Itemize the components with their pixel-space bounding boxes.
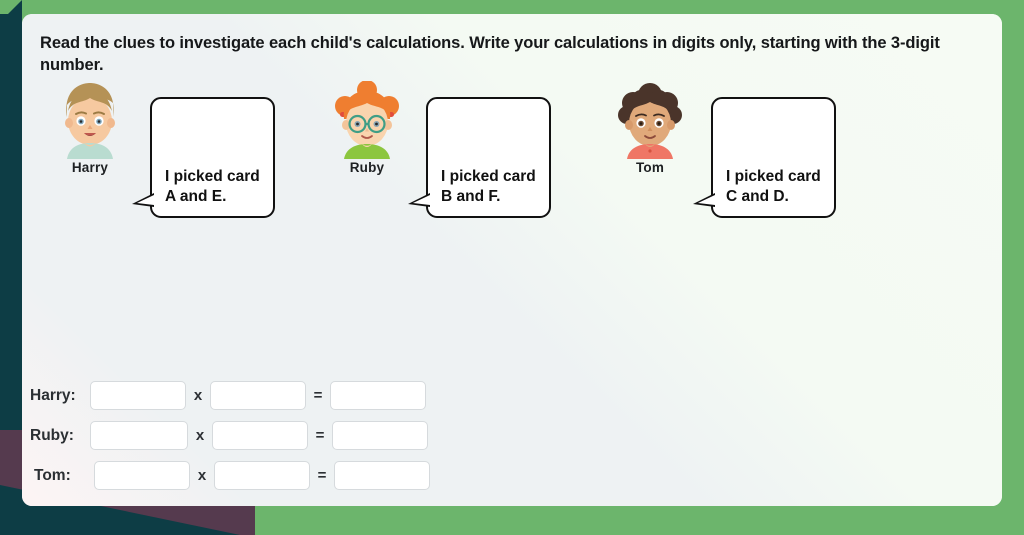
tom-factor2-input[interactable] — [214, 461, 310, 490]
answers-section: Harry: x = Ruby: x = Tom: x = — [28, 379, 1002, 493]
tom-multiply-symbol: x — [190, 467, 214, 484]
answer-row-tom: Tom: x = — [32, 459, 1002, 493]
speech-bubble-ruby-text: I picked card B and F. — [441, 168, 536, 205]
bubble-tail-fill-icon — [137, 195, 154, 205]
girl-avatar-icon — [330, 81, 404, 159]
harry-equals-symbol: = — [306, 387, 330, 404]
character-name-harry: Harry — [40, 160, 140, 175]
speech-bubble-harry-text: I picked card A and E. — [165, 168, 260, 205]
boy-avatar-icon — [53, 81, 127, 159]
ruby-factor1-input[interactable] — [90, 421, 188, 450]
tom-equals-symbol: = — [310, 467, 334, 484]
characters-row: Harry I picked card A and E. — [22, 81, 1002, 191]
answer-row-harry: Harry: x = — [28, 379, 1002, 413]
harry-factor2-input[interactable] — [210, 381, 306, 410]
speech-bubble-ruby: I picked card B and F. — [426, 97, 551, 218]
worksheet-stage: Read the clues to investigate each child… — [0, 0, 1024, 535]
character-harry: Harry — [40, 81, 140, 175]
speech-bubble-harry: I picked card A and E. — [150, 97, 275, 218]
character-name-tom: Tom — [600, 160, 700, 175]
page-title: Read the clues to investigate each child… — [40, 32, 984, 77]
ruby-product-input[interactable] — [332, 421, 428, 450]
character-tom: Tom — [600, 81, 700, 175]
answer-label-ruby: Ruby: — [28, 427, 90, 445]
bubble-tail-fill-icon — [413, 195, 430, 205]
bubble-tail-fill-icon — [698, 195, 715, 205]
answer-label-harry: Harry: — [28, 387, 90, 405]
worksheet-card: Read the clues to investigate each child… — [22, 14, 1002, 506]
speech-bubble-tom-text: I picked card C and D. — [726, 168, 821, 205]
boy-curly-avatar-icon — [613, 81, 687, 159]
ruby-multiply-symbol: x — [188, 427, 212, 444]
harry-factor1-input[interactable] — [90, 381, 186, 410]
ruby-equals-symbol: = — [308, 427, 332, 444]
tom-factor1-input[interactable] — [94, 461, 190, 490]
character-name-ruby: Ruby — [317, 160, 417, 175]
answer-row-ruby: Ruby: x = — [28, 419, 1002, 453]
character-ruby: Ruby — [317, 81, 417, 175]
answer-label-tom: Tom: — [32, 467, 94, 485]
harry-product-input[interactable] — [330, 381, 426, 410]
ruby-factor2-input[interactable] — [212, 421, 308, 450]
tom-product-input[interactable] — [334, 461, 430, 490]
harry-multiply-symbol: x — [186, 387, 210, 404]
speech-bubble-tom: I picked card C and D. — [711, 97, 836, 218]
